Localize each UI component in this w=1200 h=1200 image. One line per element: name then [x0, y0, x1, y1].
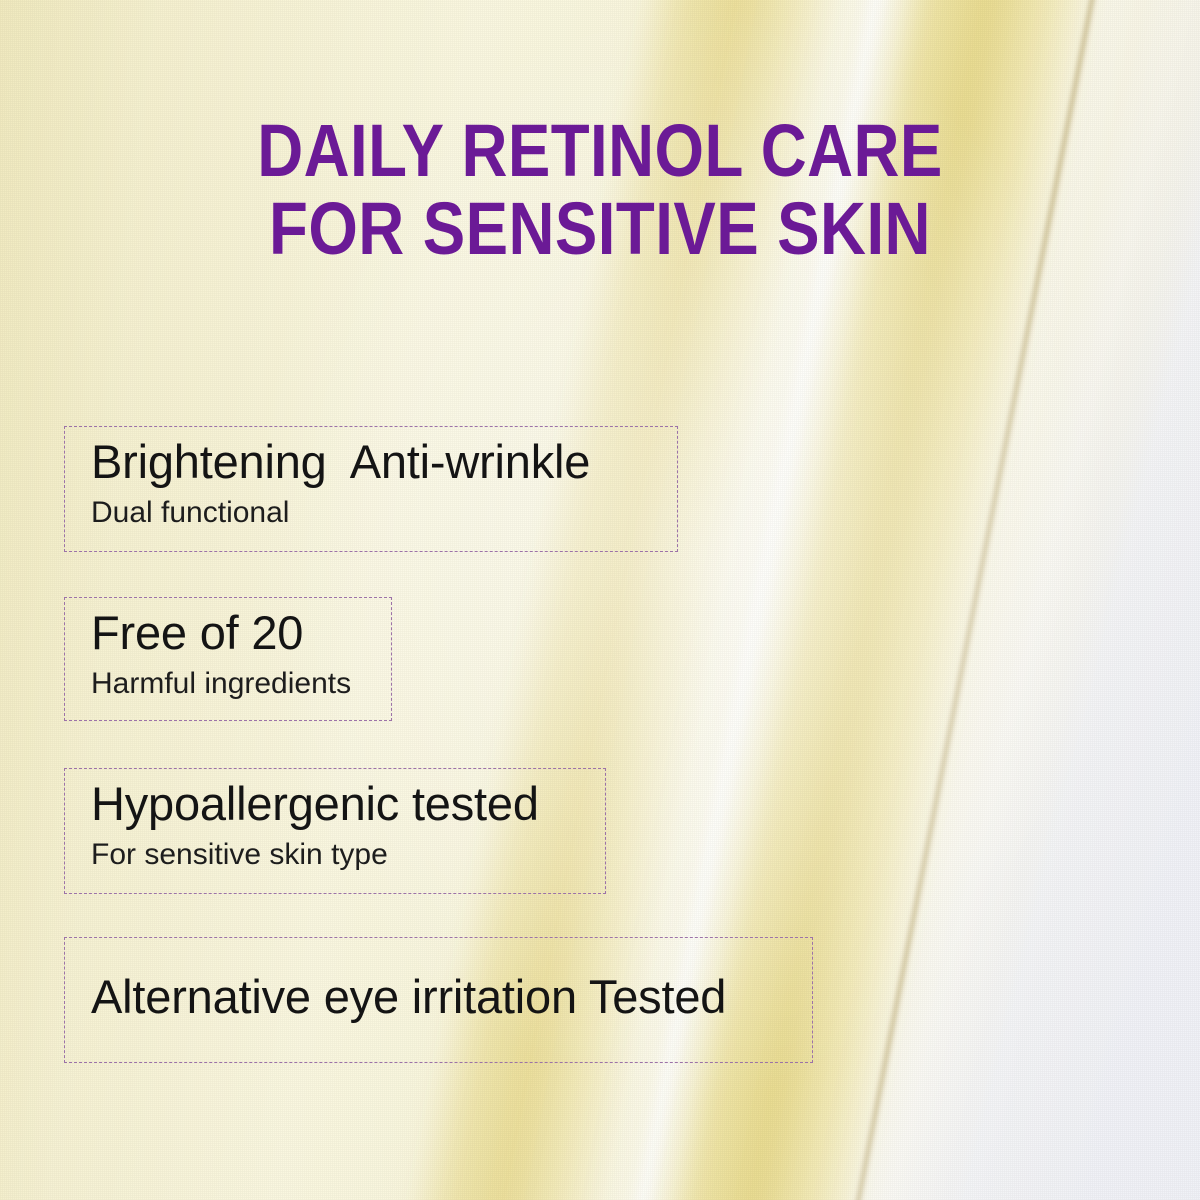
feature-title: Brightening Anti-wrinkle — [91, 437, 677, 487]
feature-title: Hypoallergenic tested — [91, 779, 605, 829]
feature-subtitle: Harmful ingredients — [91, 666, 391, 702]
feature-item-brightening: Brightening Anti-wrinkle Dual functional — [64, 426, 678, 552]
content-layer: DAILY RETINOL CARE FOR SENSITIVE SKIN Br… — [0, 0, 1200, 1200]
feature-subtitle: For sensitive skin type — [91, 837, 605, 873]
title-line-2: FOR SENSITIVE SKIN — [84, 190, 1116, 268]
feature-subtitle: Dual functional — [91, 495, 677, 531]
title-line-1: DAILY RETINOL CARE — [84, 112, 1116, 190]
feature-item-free-of-20: Free of 20 Harmful ingredients — [64, 597, 392, 721]
feature-title: Alternative eye irritation Tested — [91, 972, 812, 1022]
product-infographic: DAILY RETINOL CARE FOR SENSITIVE SKIN Br… — [0, 0, 1200, 1200]
feature-item-hypoallergenic: Hypoallergenic tested For sensitive skin… — [64, 768, 606, 894]
feature-title: Free of 20 — [91, 608, 391, 658]
page-title: DAILY RETINOL CARE FOR SENSITIVE SKIN — [84, 112, 1116, 269]
feature-item-eye-irritation: Alternative eye irritation Tested — [64, 937, 813, 1063]
